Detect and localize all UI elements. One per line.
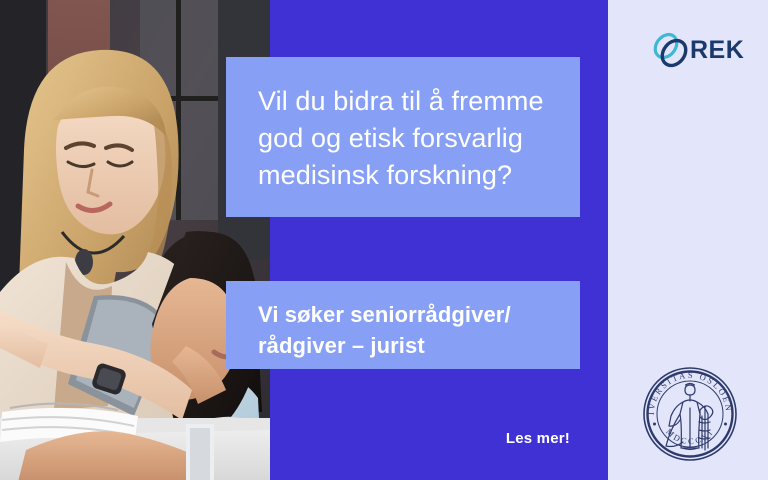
job-title-text: Vi søker seniorrådgiver/ rådgiver – juri…: [258, 299, 560, 361]
uio-seal: UNIVERSITAS OSLOENSIS MDCCCXI: [638, 362, 742, 466]
rek-wordmark: REK: [690, 36, 744, 65]
headline-text: Vil du bidra til å fremme god og etisk f…: [258, 83, 550, 194]
uio-seal-icon: UNIVERSITAS OSLOENSIS MDCCCXI: [638, 362, 742, 466]
headline-box: Vil du bidra til å fremme god og etisk f…: [226, 57, 580, 217]
rek-logo[interactable]: REK: [650, 26, 742, 74]
rek-rings-icon: [650, 28, 692, 72]
job-advert-banner: Vil du bidra til å fremme god og etisk f…: [0, 0, 768, 480]
job-title-box: Vi søker seniorrådgiver/ rådgiver – juri…: [226, 281, 580, 369]
read-more-link[interactable]: Les mer!: [380, 430, 570, 447]
